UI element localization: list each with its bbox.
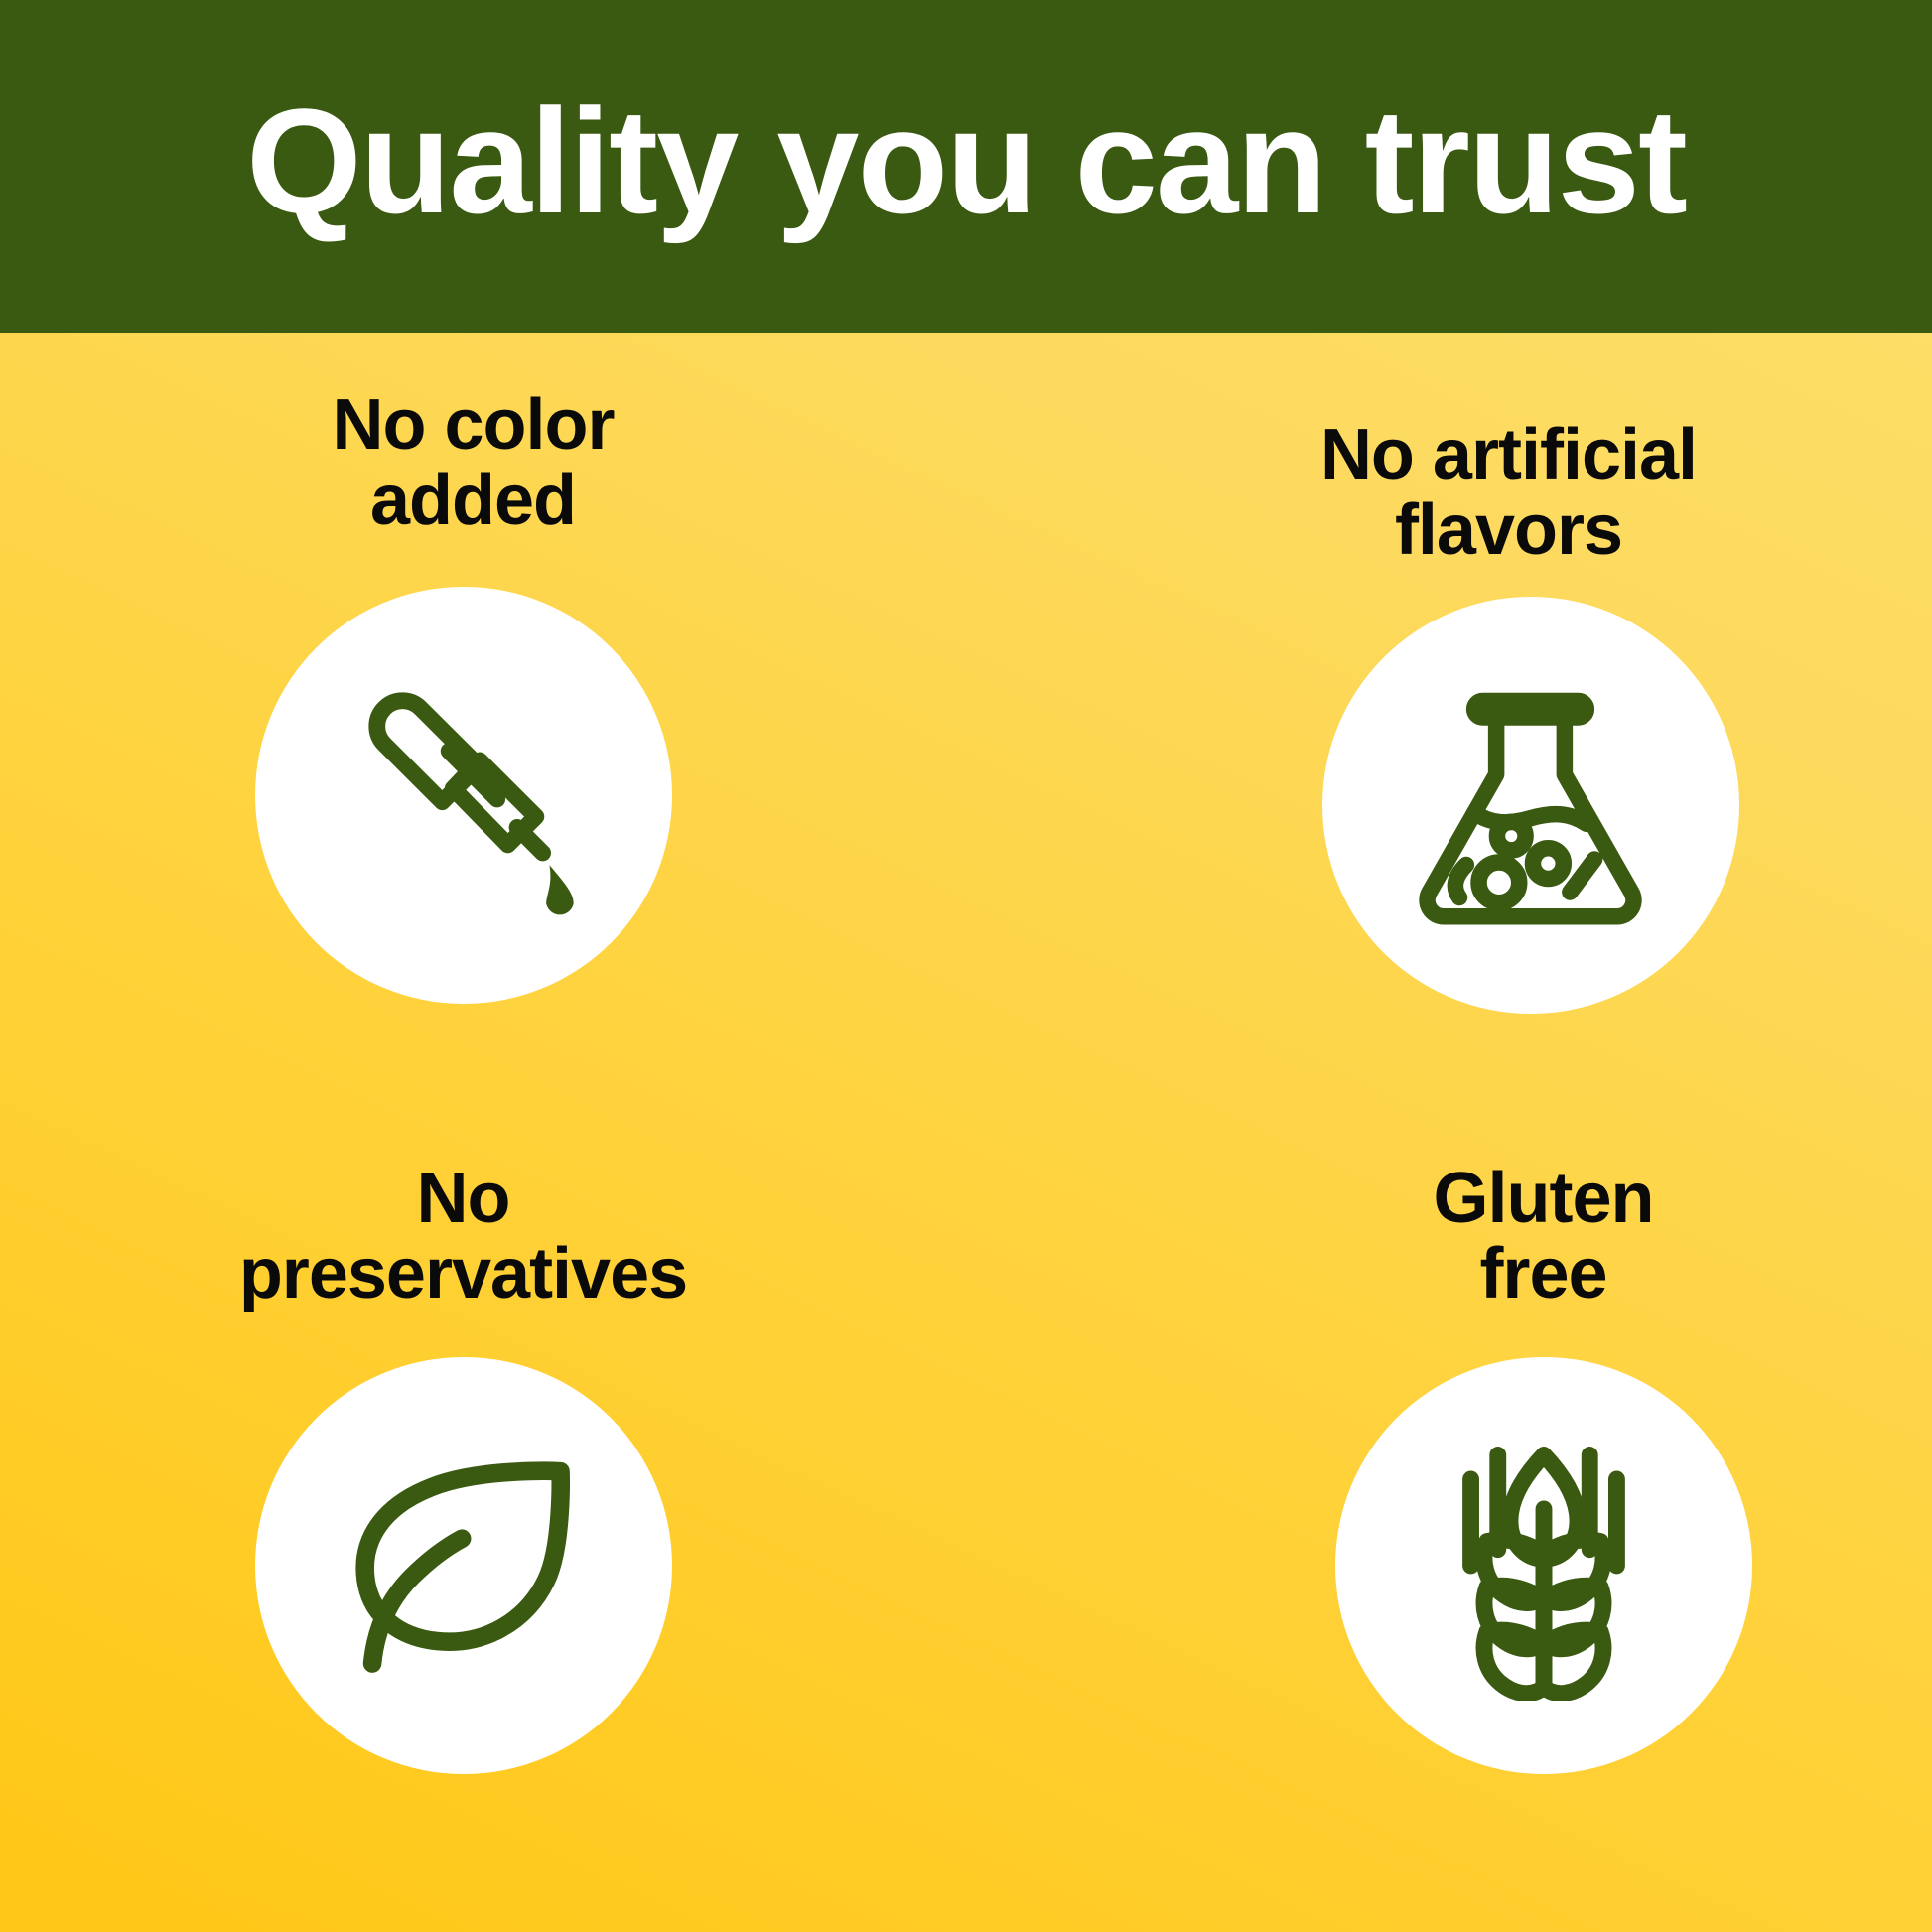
feature-label-no-preservatives: No preservatives: [239, 1161, 687, 1312]
icon-disc-no-artificial-flavors: [1322, 597, 1739, 1014]
icon-disc-gluten-free: [1335, 1357, 1752, 1774]
feature-label-no-color-added: No color added: [332, 387, 614, 539]
feature-no-artificial-flavors: No artificial flavors: [966, 333, 1932, 1133]
feature-label-no-artificial-flavors: No artificial flavors: [1320, 417, 1697, 569]
wheat-icon: [1409, 1431, 1679, 1701]
icon-disc-no-preservatives: [255, 1357, 672, 1774]
leaf-icon: [332, 1435, 595, 1698]
dropper-icon: [330, 661, 598, 929]
page-title: Quality you can trust: [246, 86, 1686, 235]
drop-icon: [546, 865, 574, 914]
quality-badge-poster: Quality you can trust No color added: [0, 0, 1932, 1932]
feature-gluten-free: Gluten free: [966, 1133, 1932, 1932]
feature-no-color-added: No color added: [0, 333, 966, 1133]
icon-disc-no-color-added: [255, 587, 672, 1004]
feature-no-preservatives: No preservatives: [0, 1133, 966, 1932]
feature-grid: No color added: [0, 333, 1932, 1932]
feature-label-gluten-free: Gluten free: [1434, 1161, 1654, 1312]
header-banner: Quality you can trust: [0, 0, 1932, 333]
flask-icon: [1394, 668, 1667, 941]
